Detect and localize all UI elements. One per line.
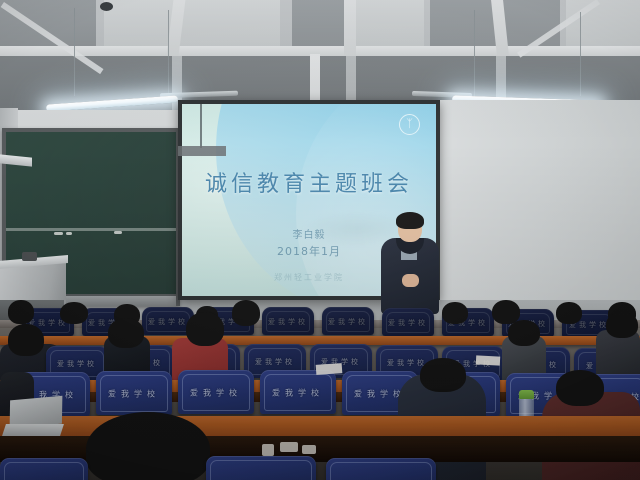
- presenter-hands: [402, 274, 419, 287]
- slide-title: 诚信教育主题班会: [182, 166, 436, 198]
- tissue-paper: [280, 442, 298, 452]
- student-head: [556, 302, 582, 324]
- student-head: [8, 300, 34, 324]
- chalk-piece: [114, 231, 122, 234]
- student-head: [606, 312, 638, 338]
- light-hanger-wire-3: [474, 10, 475, 98]
- seat-back-5: 爱我学校: [262, 307, 314, 335]
- tissue-paper: [302, 445, 316, 454]
- seat-embroidery: 爱我学校: [382, 318, 434, 328]
- light-hanger-wire-1: [74, 8, 75, 96]
- seat-front-3: 爱我学校: [178, 370, 254, 414]
- light-hanger-wire-2: [168, 10, 169, 96]
- seat-back-6: 爱我学校: [322, 307, 374, 335]
- seat-embroidery: 爱我学校: [262, 317, 314, 327]
- paper-sheet: [316, 363, 343, 375]
- slide-logo-icon: ᛉ: [399, 114, 420, 135]
- light-hanger-wire-4: [580, 12, 581, 96]
- slide-date: 2018年1月: [244, 243, 374, 259]
- seat-embroidery: 爱我学校: [322, 317, 374, 327]
- smoke-detector-icon: [100, 2, 113, 11]
- seat-back-7: 爱我学校: [382, 308, 434, 336]
- slide-presenter-name: 李白毅: [244, 226, 374, 241]
- seat-embroidery: 爱我学校: [46, 359, 108, 369]
- seat-foreground-3: [326, 458, 436, 480]
- slide-organization: 郑州轻工业学院: [222, 272, 396, 283]
- student-head: [108, 318, 144, 348]
- ceiling-beam-horizontal: [0, 46, 640, 56]
- student-head: [442, 302, 468, 324]
- seat-embroidery: 爱我学校: [96, 388, 172, 399]
- seat-foreground-2: [206, 456, 316, 480]
- ceiling-coffer-4: [352, 0, 424, 50]
- chalkboard-divider: [6, 228, 176, 231]
- lectern-equipment: [22, 252, 37, 261]
- paper-sheet: [476, 355, 500, 365]
- student-foreground-head: [86, 412, 210, 480]
- student-head: [232, 300, 260, 326]
- screen-cable: [200, 104, 202, 148]
- seat-embroidery: 爱我学校: [244, 357, 306, 367]
- student-head: [8, 324, 44, 356]
- student-head: [60, 302, 88, 324]
- seat-foreground-1: [0, 458, 88, 480]
- seat-front-4: 爱我学校: [260, 370, 336, 414]
- tissue-paper: [262, 444, 274, 456]
- student-head: [186, 312, 224, 346]
- seat-front-2: 爱我学校: [96, 371, 172, 415]
- chalk-piece: [54, 232, 63, 235]
- classroom-photo: ᛉ 诚信教育主题班会 李白毅 2018年1月 郑州轻工业学院 爱我学校 爱我学校…: [0, 0, 640, 480]
- seat-embroidery: 爱我学校: [178, 387, 254, 398]
- ceiling-coffer-2: [104, 0, 280, 52]
- student-head: [556, 370, 604, 406]
- chalk-piece: [66, 232, 72, 235]
- laptop-keyboard: [2, 424, 64, 436]
- screen-mount-bracket: [178, 146, 226, 156]
- bottle-cap: [519, 390, 534, 399]
- student-head: [420, 358, 466, 392]
- ceiling-beam-vertical-2: [344, 0, 356, 56]
- presenter-hair: [396, 212, 424, 229]
- student-head: [508, 320, 540, 346]
- ceiling-coffer-6: [566, 0, 640, 48]
- seat-embroidery: 爱我学校: [260, 387, 336, 398]
- ceiling-coffer-3: [292, 0, 350, 48]
